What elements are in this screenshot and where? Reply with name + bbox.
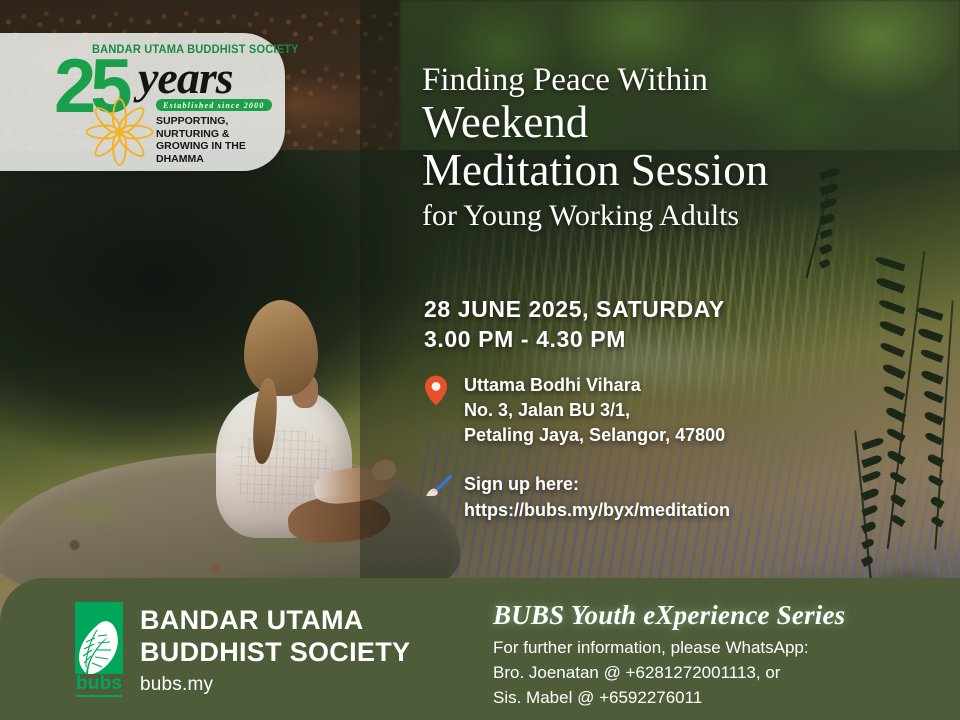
bubs-logo-square [75, 602, 123, 674]
headline-kicker: Finding Peace Within [422, 62, 942, 99]
event-venue-block: Uttama Bodhi Vihara No. 3, Jalan BU 3/1,… [424, 373, 904, 448]
bubs-wordmark: bubs [76, 674, 122, 697]
event-venue-address: Uttama Bodhi Vihara No. 3, Jalan BU 3/1,… [464, 373, 904, 448]
footer-contact-info: For further information, please WhatsApp… [493, 635, 809, 710]
anniversary-tagline: SUPPORTING, NURTURING & GROWING IN THE D… [156, 115, 274, 165]
writing-hand-icon [424, 473, 454, 499]
headline-line-1: Weekend [422, 97, 942, 147]
anniversary-established-badge: Established since 2000 [156, 99, 272, 111]
footer-band: bubs BANDAR UTAMA BUDDHIST SOCIETY bubs.… [0, 578, 960, 720]
headline-block: Finding Peace Within Weekend Meditation … [422, 62, 942, 234]
event-datetime: 28 JUNE 2025, SATURDAY 3.00 PM - 4.30 PM [424, 294, 725, 354]
meditating-woman [196, 300, 376, 560]
footer-organisation-name: BANDAR UTAMA BUDDHIST SOCIETY [140, 604, 410, 668]
event-poster: BANDAR UTAMA BUDDHIST SOCIETY 25 years E… [0, 0, 960, 720]
bubs-logo: bubs [75, 602, 127, 694]
footer-series-title: BUBS Youth eXperience Series [493, 600, 845, 631]
signup-link-text[interactable]: Sign up here: https://bubs.my/byx/medita… [464, 471, 914, 523]
bodhi-leaf-icon [75, 620, 123, 674]
anniversary-years-word: years [138, 55, 233, 101]
headline-line-2: Meditation Session [422, 145, 942, 195]
headline-audience: for Young Working Adults [422, 198, 942, 234]
woman-hair [244, 300, 318, 396]
anniversary-logo-card: BANDAR UTAMA BUDDHIST SOCIETY 25 years E… [0, 33, 285, 171]
location-pin-icon [424, 375, 448, 405]
lotus-flower-icon [86, 97, 148, 159]
footer-website[interactable]: bubs.my [140, 674, 213, 696]
signup-block[interactable]: Sign up here: https://bubs.my/byx/medita… [424, 471, 914, 523]
